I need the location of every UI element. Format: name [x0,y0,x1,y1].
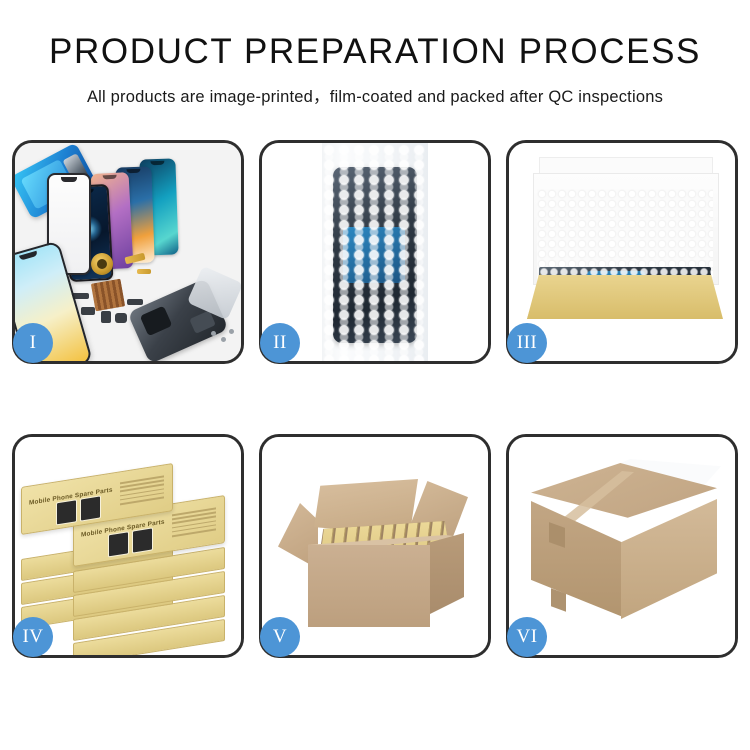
screw-part [221,337,226,342]
phone-thumbnail [132,527,153,553]
speaker-coil-part [91,253,113,275]
notch-icon [103,175,117,180]
small-part [81,307,95,315]
notch-icon [61,177,77,182]
step-badge-1: I [13,323,53,363]
phone-thumbnail [80,495,101,521]
carton-right-face [621,499,717,619]
step-panel-4: Mobile Phone Spare Parts Mobile Phone Sp… [12,434,244,658]
notch-icon [126,169,140,173]
step-badge-3: III [507,323,547,363]
sealed-carton [531,463,717,633]
page-subtitle: All products are image-printed，film-coat… [0,83,750,107]
step-image-3 [509,143,735,361]
small-part [115,313,127,323]
screw-part [229,329,234,334]
bubble-wrap-layer-back [322,150,428,361]
process-steps-grid: I II III [12,140,738,658]
page-title: PRODUCT PREPARATION PROCESS [0,34,750,69]
step-badge-5: V [260,617,300,657]
carton-side [428,533,464,615]
small-part [101,311,111,323]
step-panel-2: II [259,140,491,364]
phone-thumbnail [56,499,77,525]
step-image-4: Mobile Phone Spare Parts Mobile Phone Sp… [15,437,241,655]
screw-part [211,331,216,336]
flex-cable-part [137,269,151,274]
header: PRODUCT PREPARATION PROCESS All products… [0,0,750,107]
box-spec-lines [120,475,164,507]
step-badge-2: II [260,323,300,363]
small-part [127,299,143,305]
step-panel-6: VI [506,434,738,658]
step-image-5 [262,437,488,655]
retail-box-stack: Mobile Phone Spare Parts Mobile Phone Sp… [21,455,237,645]
phone-thumbnail [108,531,129,557]
notch-icon [150,161,164,165]
step-panel-5: V [259,434,491,658]
step-image-2 [262,143,488,361]
step-image-6 [509,437,735,655]
chip-grid-part [91,279,125,312]
box-spec-lines [172,507,216,539]
step-badge-4: IV [13,617,53,657]
step-image-1 [15,143,241,361]
notch-icon [19,251,38,261]
carton-front [308,545,430,627]
box-front-wall [527,275,723,319]
open-carton [292,483,462,633]
step-badge-6: VI [507,617,547,657]
step-panel-3: III [506,140,738,364]
step-panel-1: I [12,140,244,364]
